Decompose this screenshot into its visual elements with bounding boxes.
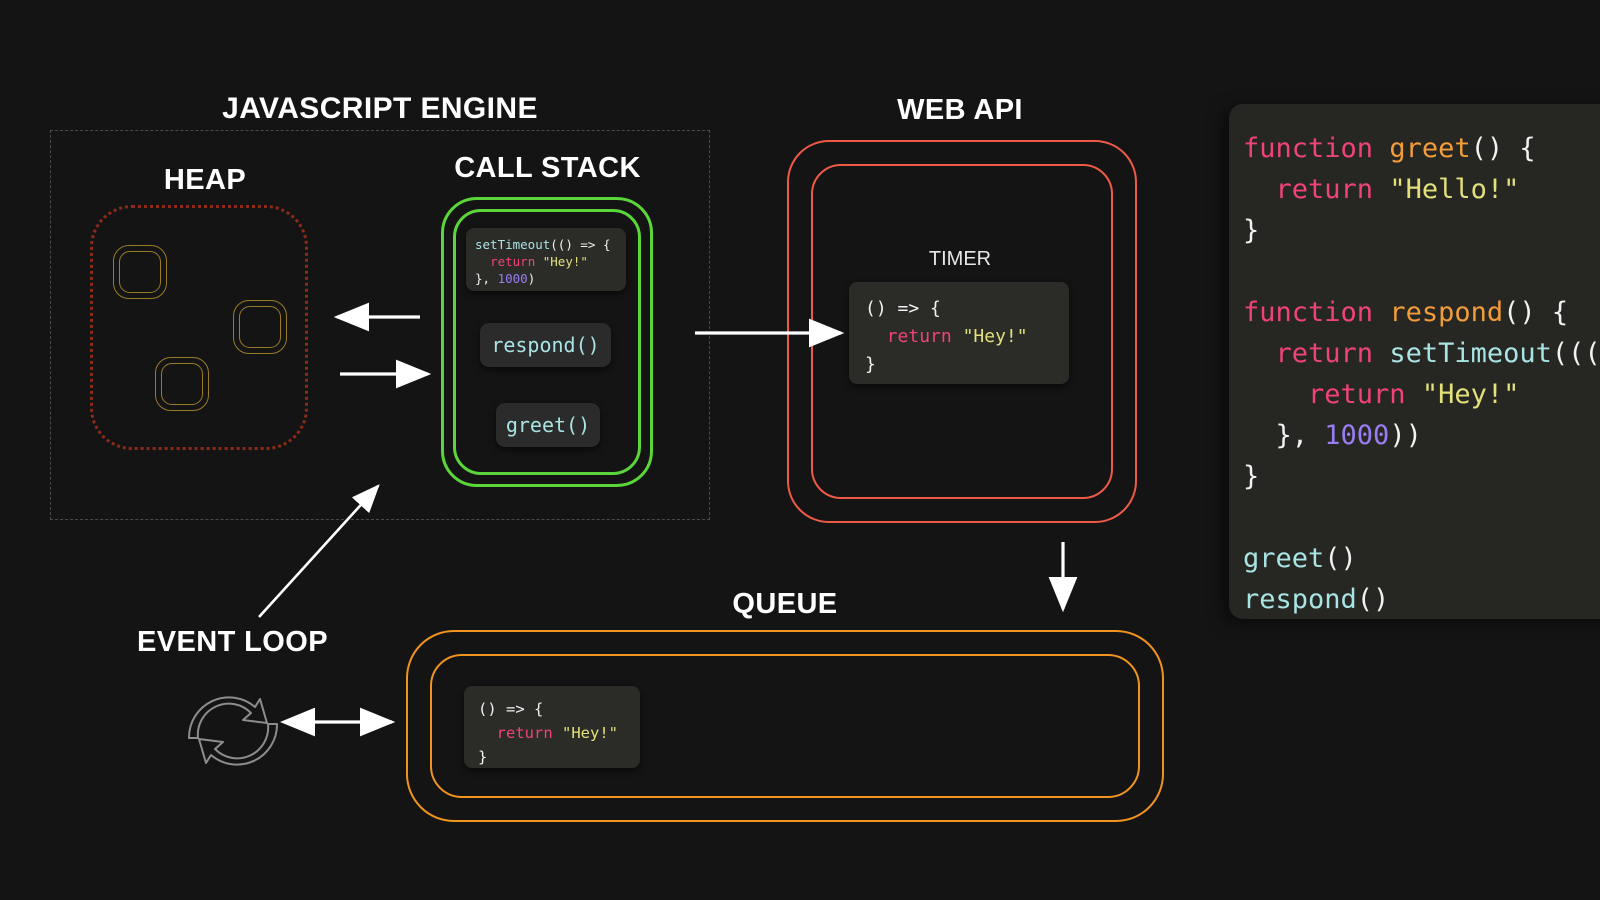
recycle-loop-icon bbox=[163, 676, 303, 786]
queue-item-callback: () => { return "Hey!" } bbox=[464, 686, 640, 768]
javascript-engine-title: JAVASCRIPT ENGINE bbox=[0, 92, 760, 126]
timer-label: TIMER bbox=[790, 248, 1130, 271]
web-api-title: WEB API bbox=[790, 94, 1130, 127]
call-stack-frame-respond: respond() bbox=[480, 323, 611, 367]
call-stack-frames: setTimeout(() => { return "Hey!" }, 1000… bbox=[466, 228, 628, 456]
call-stack-frame-settimeout: setTimeout(() => { return "Hey!" }, 1000… bbox=[466, 228, 626, 291]
heap-object-node bbox=[233, 300, 287, 354]
queue-title: QUEUE bbox=[405, 588, 1165, 621]
event-loop-title: EVENT LOOP bbox=[100, 626, 365, 659]
call-stack-title: CALL STACK bbox=[420, 152, 675, 185]
source-code-panel: function greet() { return "Hello!" } fun… bbox=[1229, 104, 1600, 619]
diagram-canvas: JAVASCRIPT ENGINE HEAP CALL STACK setTim… bbox=[0, 0, 1600, 900]
heap-title: HEAP bbox=[60, 164, 350, 197]
heap-object-node bbox=[113, 245, 167, 299]
heap-object-node bbox=[155, 357, 209, 411]
timer-callback-snippet: () => { return "Hey!" } bbox=[849, 282, 1069, 384]
call-stack-frame-greet: greet() bbox=[496, 403, 600, 447]
